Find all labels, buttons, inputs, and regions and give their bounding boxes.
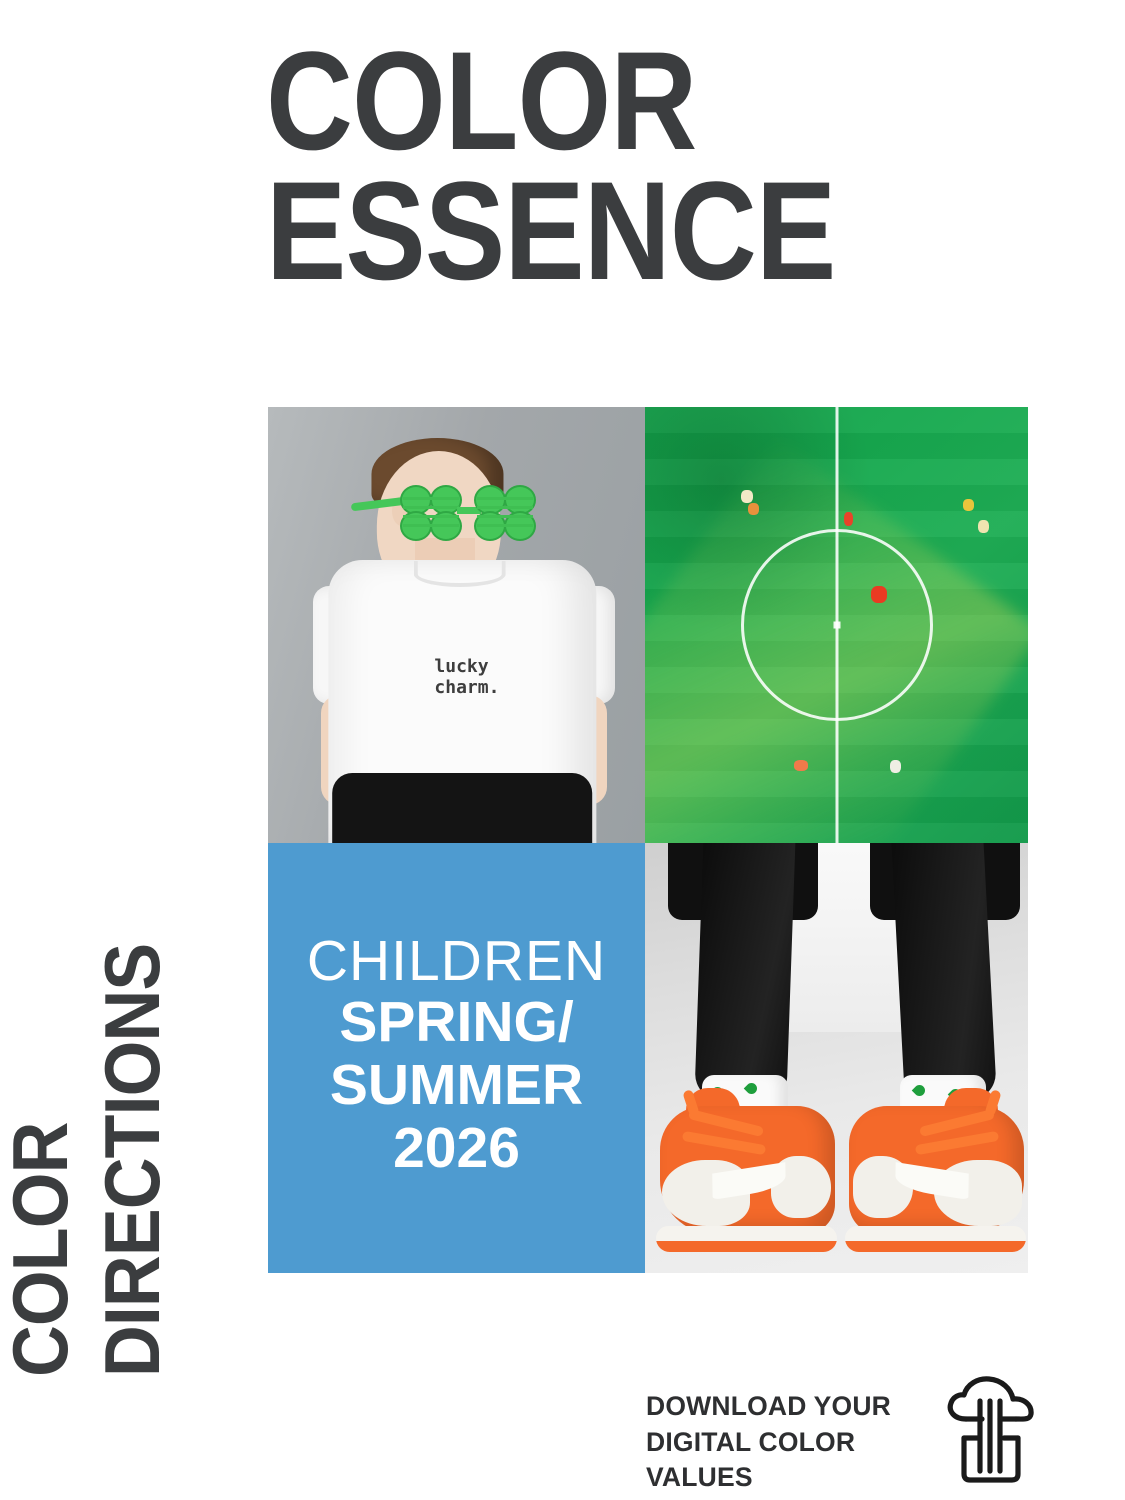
cover-image-grid: lucky charm. (268, 407, 1028, 1273)
pitch-player (890, 760, 901, 773)
boy-tshirt-collar (413, 561, 505, 587)
boy-trousers (332, 773, 592, 843)
sneaker-right (849, 1072, 1024, 1252)
pitch-centre-spot (833, 622, 840, 629)
masthead-line-color: COLOR (266, 36, 816, 166)
pitch-player (748, 503, 759, 515)
sunglasses-lens-left (397, 485, 465, 543)
photo-aerial-football-pitch (645, 407, 1028, 843)
pitch-player (844, 512, 853, 526)
pitch-player (871, 586, 887, 603)
tshirt-text-line2: charm. (434, 677, 499, 699)
sneaker-sole (845, 1226, 1026, 1252)
sunglasses-lens-right (471, 485, 539, 543)
pitch-player (741, 490, 753, 503)
caption-summer: SUMMER (330, 1054, 583, 1117)
cover-page: COLOR ESSENCE lucky charm. (0, 0, 1125, 1500)
photo-sneakers-shamrock-socks (645, 843, 1028, 1273)
caption-spring: SPRING/ (339, 991, 573, 1054)
photo-boy-shamrock-glasses: lucky charm. (268, 407, 645, 843)
download-label: DOWNLOAD YOUR DIGITAL COLOR VALUES (646, 1375, 920, 1496)
side-label-directions: DIRECTIONS (87, 944, 178, 1377)
side-label-color: COLOR (0, 1122, 86, 1377)
page-title: COLOR ESSENCE (266, 36, 906, 296)
download-label-line2: DIGITAL COLOR VALUES (646, 1425, 920, 1496)
cloud-download-icon[interactable] (944, 1375, 1036, 1487)
season-caption-block: CHILDREN SPRING/ SUMMER 2026 (268, 843, 645, 1273)
shamrock-sunglasses-icon (393, 483, 543, 545)
pitch-player (978, 520, 989, 533)
pitch-player (794, 760, 808, 771)
caption-children: CHILDREN (307, 931, 606, 991)
caption-year: 2026 (393, 1117, 520, 1180)
child-leg-right (891, 843, 997, 1103)
sneaker-sole (656, 1226, 837, 1252)
tshirt-graphic-text: lucky charm. (434, 656, 499, 700)
download-label-line1: DOWNLOAD YOUR (646, 1389, 920, 1425)
sneaker-left (660, 1072, 835, 1252)
pitch-player (963, 499, 974, 511)
download-digital-color-values[interactable]: DOWNLOAD YOUR DIGITAL COLOR VALUES (646, 1375, 1036, 1495)
tshirt-text-line1: lucky (434, 656, 499, 678)
masthead-line-essence: ESSENCE (266, 166, 816, 296)
child-leg-left (694, 843, 795, 1103)
